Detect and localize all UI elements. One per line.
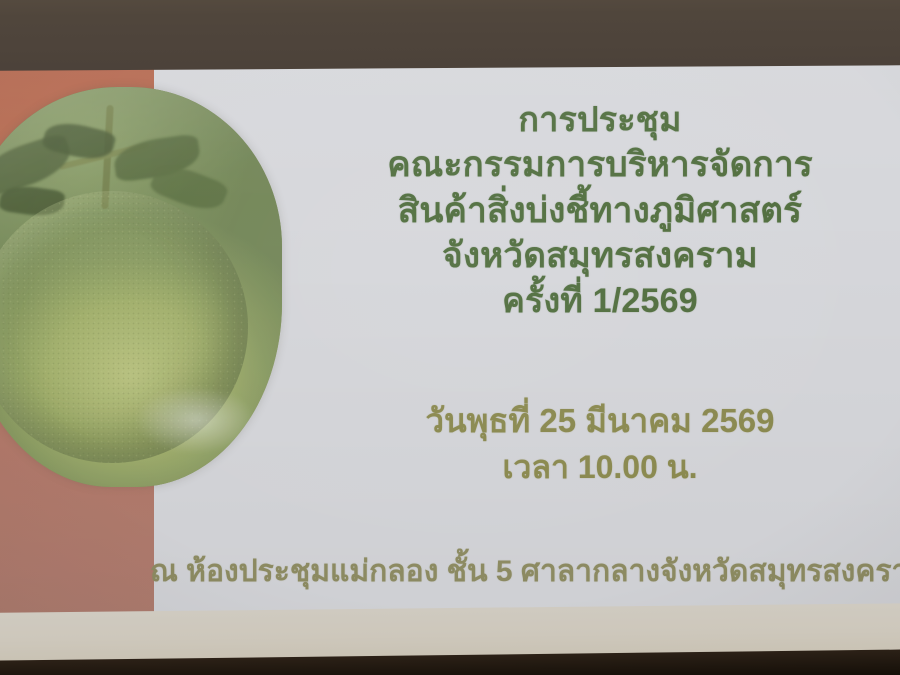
presentation-slide: การประชุม คณะกรรมการบริหารจัดการ สินค้าส… [0,60,900,613]
title-line-2: คณะกรรมการบริหารจัดการ [300,142,900,188]
title-line-3: สินค้าสิ่งบ่งชี้ทางภูมิศาสตร์ [300,188,900,234]
title-line-1: การประชุม [300,98,900,142]
pomelo-photo [0,87,282,487]
projected-slide-photograph: การประชุม คณะกรรมการบริหารจัดการ สินค้าส… [0,0,900,675]
slide-datetime-block: วันพุธที่ 25 มีนาคม 2569 เวลา 10.00 น. [300,398,900,490]
meeting-time: เวลา 10.00 น. [300,445,900,490]
slide-title-block: การประชุม คณะกรรมการบริหารจัดการ สินค้าส… [300,98,900,323]
wall-above-screen [0,0,900,71]
meeting-venue: ณ ห้องประชุมแม่กลอง ชั้น 5 ศาลากลางจังหว… [150,548,900,595]
meeting-date: วันพุธที่ 25 มีนาคม 2569 [300,398,900,445]
title-line-5: ครั้งที่ 1/2569 [300,279,900,323]
photo-haze [0,87,282,487]
title-line-4: จังหวัดสมุทรสงคราม [300,233,900,279]
